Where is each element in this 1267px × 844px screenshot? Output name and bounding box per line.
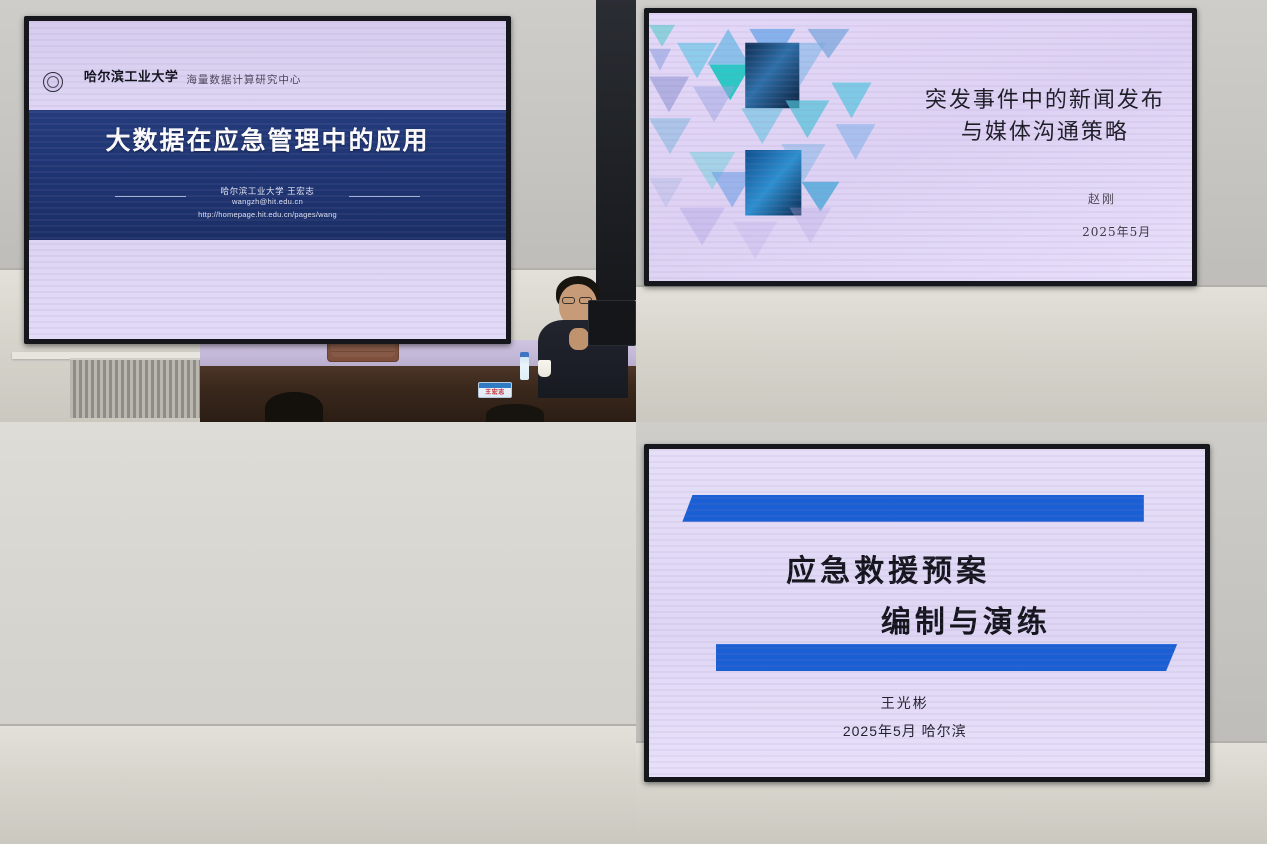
slide1-affiliation: 哈尔滨工业大学 王宏志 bbox=[29, 185, 506, 197]
video-grid: 王宏志 哈尔滨工业大学 海量数据计算研究中心 Massive Data Comp… bbox=[0, 0, 1267, 844]
slide-big-data: 哈尔滨工业大学 海量数据计算研究中心 Massive Data Computin… bbox=[29, 21, 506, 339]
wall-lower bbox=[636, 287, 1267, 422]
triangle-mosaic-svg bbox=[649, 13, 910, 281]
slide1-university: 哈尔滨工业大学 bbox=[84, 66, 179, 85]
slide4-bar-bottom bbox=[716, 644, 1177, 671]
projector-screen-frame: 哈尔滨工业大学 海量数据计算研究中心 Massive Data Computin… bbox=[24, 16, 511, 344]
slide2-author: 赵刚 bbox=[1088, 190, 1116, 207]
projector-screen-frame: 应急救援预案 编制与演练 王光彬 2025年5月 哈尔滨 bbox=[644, 444, 1210, 782]
glasses-icon bbox=[562, 297, 575, 304]
slide1-email: wangzh@hit.edu.cn bbox=[29, 197, 506, 206]
radiator bbox=[70, 358, 205, 418]
presenter-hand bbox=[569, 328, 589, 350]
slide1-title: 大数据在应急管理中的应用 bbox=[29, 121, 506, 157]
slide2-title: 突发事件中的新闻发布 与媒体沟通策略 bbox=[925, 85, 1165, 147]
quadrant-bottom-right[interactable]: 王光彬 应急救援预案 编制与演练 王光彬 2025年5月 哈尔滨 bbox=[636, 422, 1267, 844]
slide2-title-line1: 突发事件中的新闻发布 bbox=[925, 85, 1165, 116]
projector-screen[interactable]: 应急救援预案 编制与演练 王光彬 2025年5月 哈尔滨 bbox=[649, 449, 1205, 777]
quadrant-bottom-left[interactable]: 建筑与城市防灾 城市公共安全规划与灾害应急 哈工大建筑与设计学院 薛名辉 202… bbox=[0, 422, 636, 844]
placard-name: 王宏志 bbox=[479, 388, 511, 397]
slide4-bar-top bbox=[682, 495, 1143, 522]
wall-lower bbox=[0, 726, 636, 844]
room-background bbox=[0, 422, 636, 844]
slide4-title-line1: 应急救援预案 bbox=[649, 546, 1205, 590]
audience-head bbox=[265, 392, 323, 422]
projector-screen[interactable]: 突发事件中的新闻发布 与媒体沟通策略 赵刚 2025年5月 bbox=[649, 13, 1192, 281]
slide2-title-line2: 与媒体沟通策略 bbox=[925, 117, 1165, 148]
paper-cup bbox=[538, 360, 551, 377]
slide2-date: 2025年5月 bbox=[1082, 223, 1151, 240]
quadrant-top-left[interactable]: 王宏志 哈尔滨工业大学 海量数据计算研究中心 Massive Data Comp… bbox=[0, 0, 636, 422]
bottle-cap bbox=[520, 352, 529, 357]
slide1-lab-cn: 海量数据计算研究中心 bbox=[186, 72, 301, 87]
name-placard: 王宏志 bbox=[478, 382, 512, 398]
wall-column-right bbox=[596, 0, 636, 300]
slide1-homepage: http://homepage.hit.edu.cn/pages/wang bbox=[29, 210, 506, 219]
projector-screen[interactable]: 哈尔滨工业大学 海量数据计算研究中心 Massive Data Computin… bbox=[29, 21, 506, 339]
slide-news-release: 突发事件中的新闻发布 与媒体沟通策略 赵刚 2025年5月 bbox=[649, 13, 1192, 281]
projector-screen-frame: 突发事件中的新闻发布 与媒体沟通策略 赵刚 2025年5月 bbox=[644, 8, 1197, 286]
slide-rescue-plan: 应急救援预案 编制与演练 王光彬 2025年5月 哈尔滨 bbox=[649, 449, 1205, 777]
audience-head bbox=[486, 404, 544, 422]
triangle-mosaic bbox=[649, 13, 910, 281]
quadrant-top-right[interactable]: Audio 赵刚 bbox=[636, 0, 1267, 422]
slide4-author: 王光彬 bbox=[649, 693, 1205, 713]
water-bottle bbox=[520, 356, 529, 380]
slide4-date: 2025年5月 哈尔滨 bbox=[649, 721, 1205, 741]
slide1-footer bbox=[29, 240, 506, 339]
laptop-screen bbox=[588, 300, 636, 346]
wall-upper bbox=[0, 422, 636, 726]
slide4-title-line2: 编制与演练 bbox=[649, 597, 1205, 641]
